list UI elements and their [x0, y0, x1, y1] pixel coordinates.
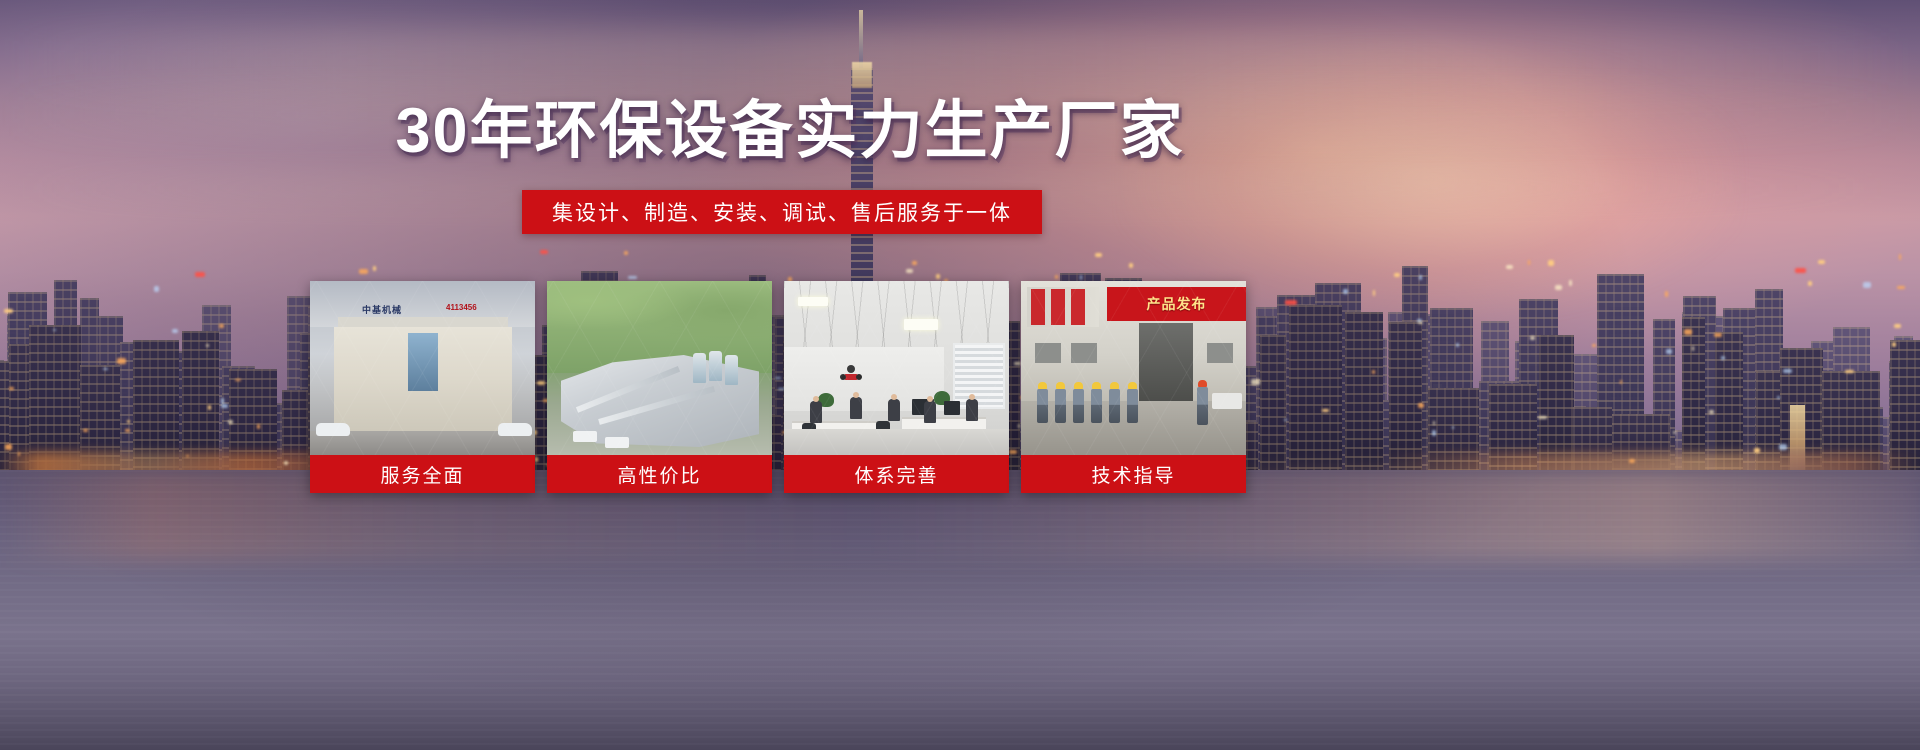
feature-card-caption: 技术指导	[1021, 455, 1246, 493]
company-office-building-photo: 中基机械 4113456	[310, 281, 535, 455]
feature-card-row: 中基机械 4113456 服务全面	[310, 281, 1272, 493]
factory-workers-photo: 产品发布	[1021, 281, 1246, 455]
feature-card[interactable]: 高性价比	[547, 281, 772, 493]
banner-content: 30年环保设备实力生产厂家 集设计、制造、安装、调试、售后服务于一体 中基机械 …	[0, 0, 1920, 750]
feature-card[interactable]: 产品发布 技术指导	[1021, 281, 1246, 493]
banner-subtitle-bar: 集设计、制造、安装、调试、售后服务于一体	[522, 190, 1042, 234]
feature-card-caption: 高性价比	[547, 455, 772, 493]
aerial-production-plant-photo	[547, 281, 772, 455]
feature-card-caption: 服务全面	[310, 455, 535, 493]
feature-card-caption: 体系完善	[784, 455, 1009, 493]
hero-banner: 30年环保设备实力生产厂家 集设计、制造、安装、调试、售后服务于一体 中基机械 …	[0, 0, 1920, 750]
factory-banner-text: 产品发布	[1147, 294, 1207, 314]
wall-decal-icon	[838, 361, 864, 383]
feature-card[interactable]: 中基机械 4113456 服务全面	[310, 281, 535, 493]
banner-headline: 30年环保设备实力生产厂家	[310, 100, 1270, 163]
photo-sign-text: 中基机械	[362, 303, 402, 316]
factory-red-banner: 产品发布	[1107, 287, 1246, 321]
photo-phone-text: 4113456	[446, 303, 477, 312]
feature-card[interactable]: 体系完善	[784, 281, 1009, 493]
office-workspace-photo	[784, 281, 1009, 455]
banner-subtitle-text: 集设计、制造、安装、调试、售后服务于一体	[552, 197, 1012, 227]
